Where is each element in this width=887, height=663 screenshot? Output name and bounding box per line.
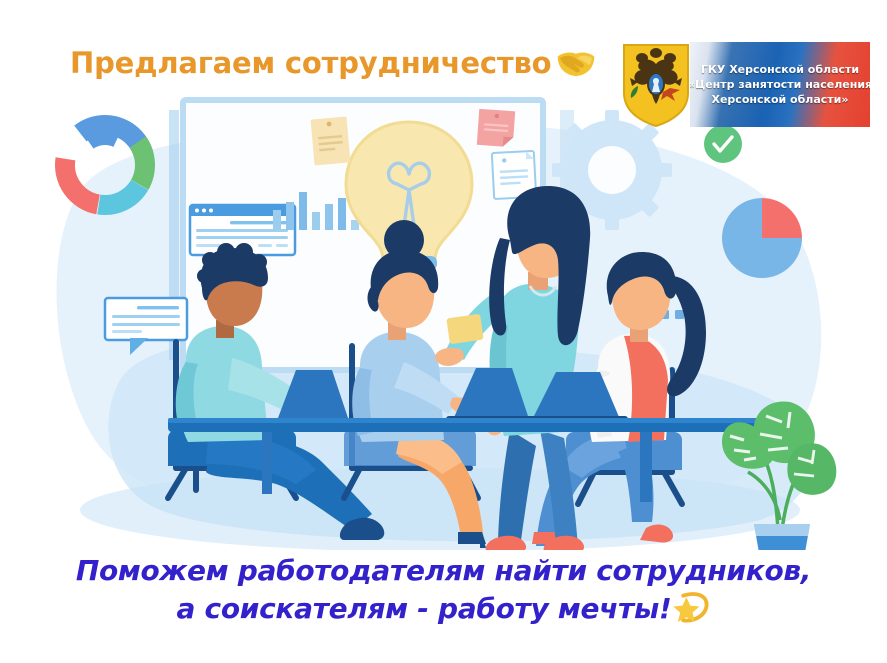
office-team-illustration <box>0 80 887 550</box>
poster-subtitle: Поможем работодателям найти сотрудников,… <box>0 552 887 628</box>
sticky-note-yellow <box>311 116 351 165</box>
check-circle-icon <box>704 125 742 163</box>
poster-title: Предлагаем сотрудничество <box>70 46 597 80</box>
dizzy-star-icon <box>672 591 710 625</box>
logo-line-2: «Центр занятости населения <box>690 77 870 92</box>
organization-logo: ГКУ Херсонской области «Центр занятости … <box>620 42 870 127</box>
logo-line-3: Херсонской области» <box>690 92 870 107</box>
subtitle-line-1: Поможем работодателям найти сотрудников, <box>0 552 887 590</box>
logo-banner: ГКУ Херсонской области «Центр занятости … <box>690 42 870 127</box>
logo-text-lines: ГКУ Херсонской области «Центр занятости … <box>690 62 870 107</box>
russian-coat-of-arms-icon <box>620 42 692 127</box>
subtitle-line-2: а соискателям - работу мечты! <box>177 590 672 628</box>
logo-line-1: ГКУ Херсонской области <box>690 62 870 77</box>
poster-canvas: Предлагаем сотрудничество <box>0 0 887 663</box>
subtitle-line-2-wrap: а соискателям - работу мечты! <box>177 590 711 628</box>
pie-chart <box>722 198 802 278</box>
handshake-icon <box>555 46 597 80</box>
page-title: Предлагаем сотрудничество <box>70 46 551 80</box>
